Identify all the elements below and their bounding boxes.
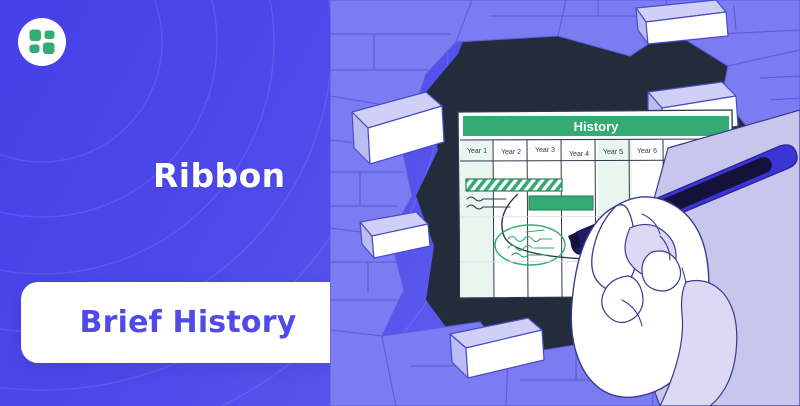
title-card: Brief History — [21, 282, 355, 363]
page-title: Brief History — [80, 305, 297, 340]
column-header: Year 6 — [637, 148, 657, 155]
column-header: Year 4 — [569, 151, 589, 158]
column-header: Year 1 — [467, 148, 487, 155]
logo-tiles-icon — [18, 18, 66, 66]
poster-canvas: Ribbon Brief History — [0, 0, 800, 406]
column-header: Year 5 — [603, 149, 623, 156]
brand-name: Ribbon — [153, 159, 286, 192]
ribbon-logo[interactable] — [18, 18, 66, 66]
brick — [636, 0, 728, 44]
chart-title: History — [574, 119, 620, 134]
column-header: Year 3 — [535, 147, 555, 154]
hero-illustration: History Year 1 Year 2 Year 3 Year 4 Ye — [330, 0, 800, 406]
highlight-column-1 — [460, 140, 493, 297]
gantt-bar-solid-middle — [529, 196, 593, 210]
column-header: Year 2 — [501, 149, 521, 156]
gantt-bar-hatched-top — [466, 179, 562, 191]
